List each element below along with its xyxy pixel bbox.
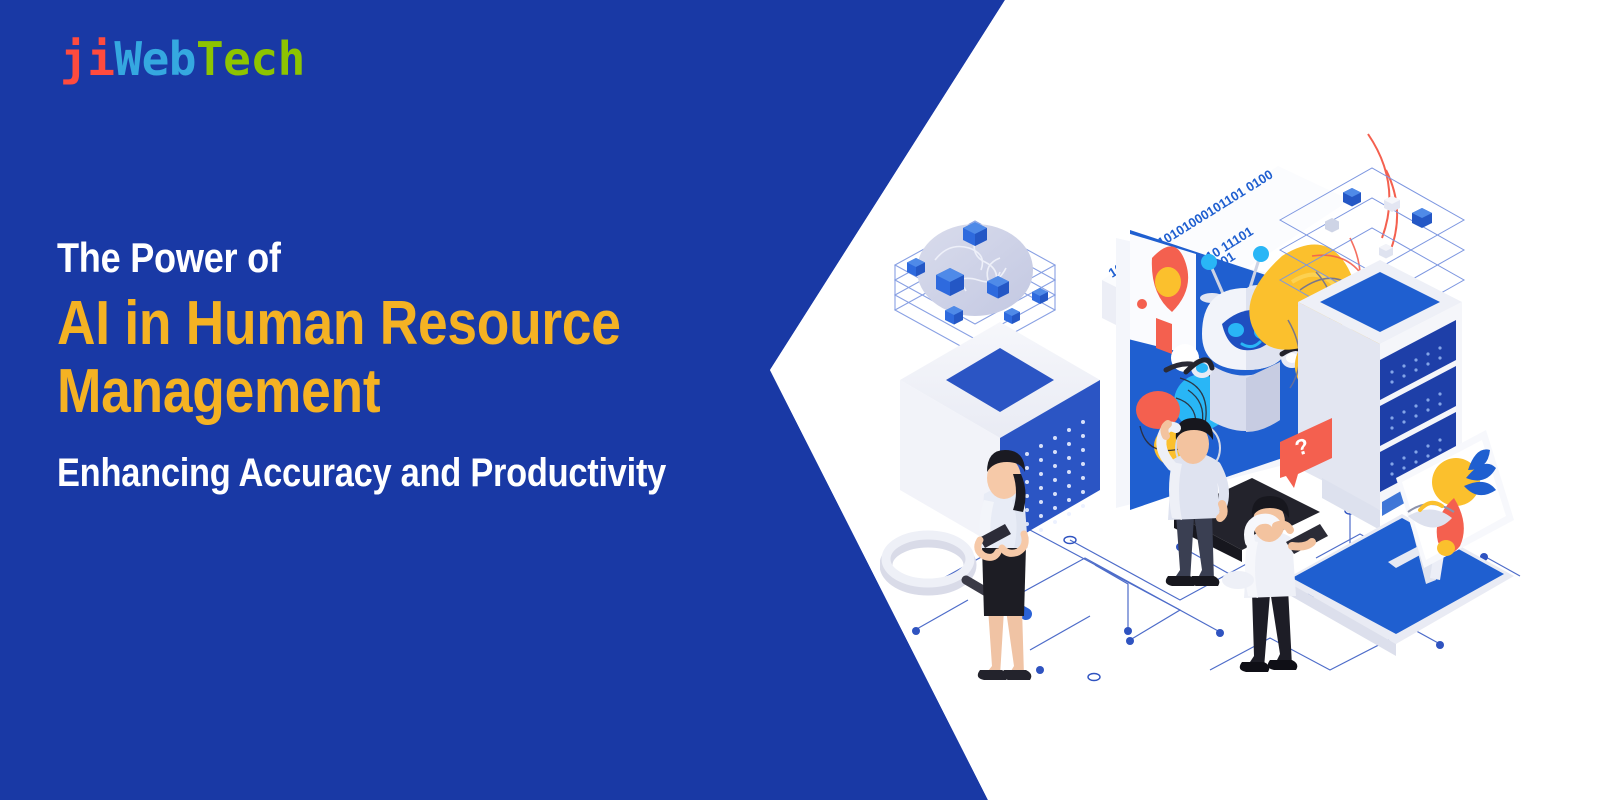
logo-part-tech: Tech — [196, 32, 305, 86]
headline-line-3: Management — [57, 360, 659, 424]
hero-illustration: AI — [880, 110, 1560, 690]
logo-part-ji: ji — [60, 32, 114, 86]
headline-block: The Power of AI in Human Resource Manage… — [57, 236, 757, 494]
logo-part-web: Web — [114, 32, 196, 86]
headline-subtitle: Enhancing Accuracy and Productivity — [57, 453, 659, 495]
neural-brain-layers — [895, 221, 1055, 354]
ai-chip-label: AI — [880, 247, 907, 277]
headline-line-2: AI in Human Resource — [57, 292, 659, 356]
brand-logo[interactable]: jiWebTech — [60, 36, 305, 82]
headline-line-1: The Power of — [57, 236, 659, 280]
banner-root: jiWebTech The Power of AI in Human Resou… — [0, 0, 1600, 800]
